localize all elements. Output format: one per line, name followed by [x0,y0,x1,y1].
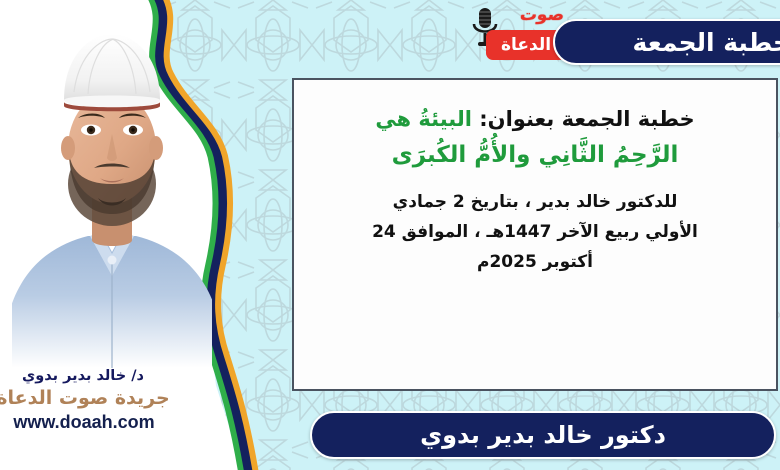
bottom-banner: دكتور خالد بدير بدوي [310,411,776,459]
sermon-info-card: خطبة الجمعة بعنوان: البيئةُ هي الرَّحِمُ… [292,78,778,391]
card-meta-line-3: أكتوبر 2025م [316,248,754,278]
logo-word-sout: صوت [519,5,565,25]
card-title-highlight: البيئةُ هي [375,107,472,131]
card-meta-line-1: للدكتور خالد بدير ، بتاريخ 2 جمادي [316,188,754,218]
photo-caption-block: د/ خالد بدير بدوي جريدة صوت الدعاة www.d… [0,368,192,433]
portrait-of-sheikh-khaled-bedeir [12,8,212,368]
photo-panel: د/ خالد بدير بدوي جريدة صوت الدعاة www.d… [0,0,300,470]
card-meta-line-2: الأولي ربيع الآخر 1447هـ ، الموافق 24 [316,218,754,248]
photo-caption-name: د/ خالد بدير بدوي [0,368,192,384]
card-title-prefix: خطبة الجمعة بعنوان: [479,107,694,131]
poster-root: د/ خالد بدير بدوي جريدة صوت الدعاة www.d… [0,0,780,470]
card-meta: للدكتور خالد بدير ، بتاريخ 2 جمادي الأول… [316,188,754,277]
top-banner: خطبة الجمعة [553,19,780,65]
photo-caption-paper: جريدة صوت الدعاة [0,387,192,409]
sout-al-doaah-logo[interactable]: صوت الدعاة [468,4,566,66]
card-title-line-2: الرَّحِمُ الثَّانِي والأُمُّ الكُبرَى [316,138,754,173]
photo-caption-url[interactable]: www.doaah.com [0,412,192,433]
card-title-line-1: خطبة الجمعة بعنوان: البيئةُ هي [316,104,754,136]
top-banner-text: خطبة الجمعة [633,28,780,57]
bottom-banner-text: دكتور خالد بدير بدوي [420,421,666,449]
